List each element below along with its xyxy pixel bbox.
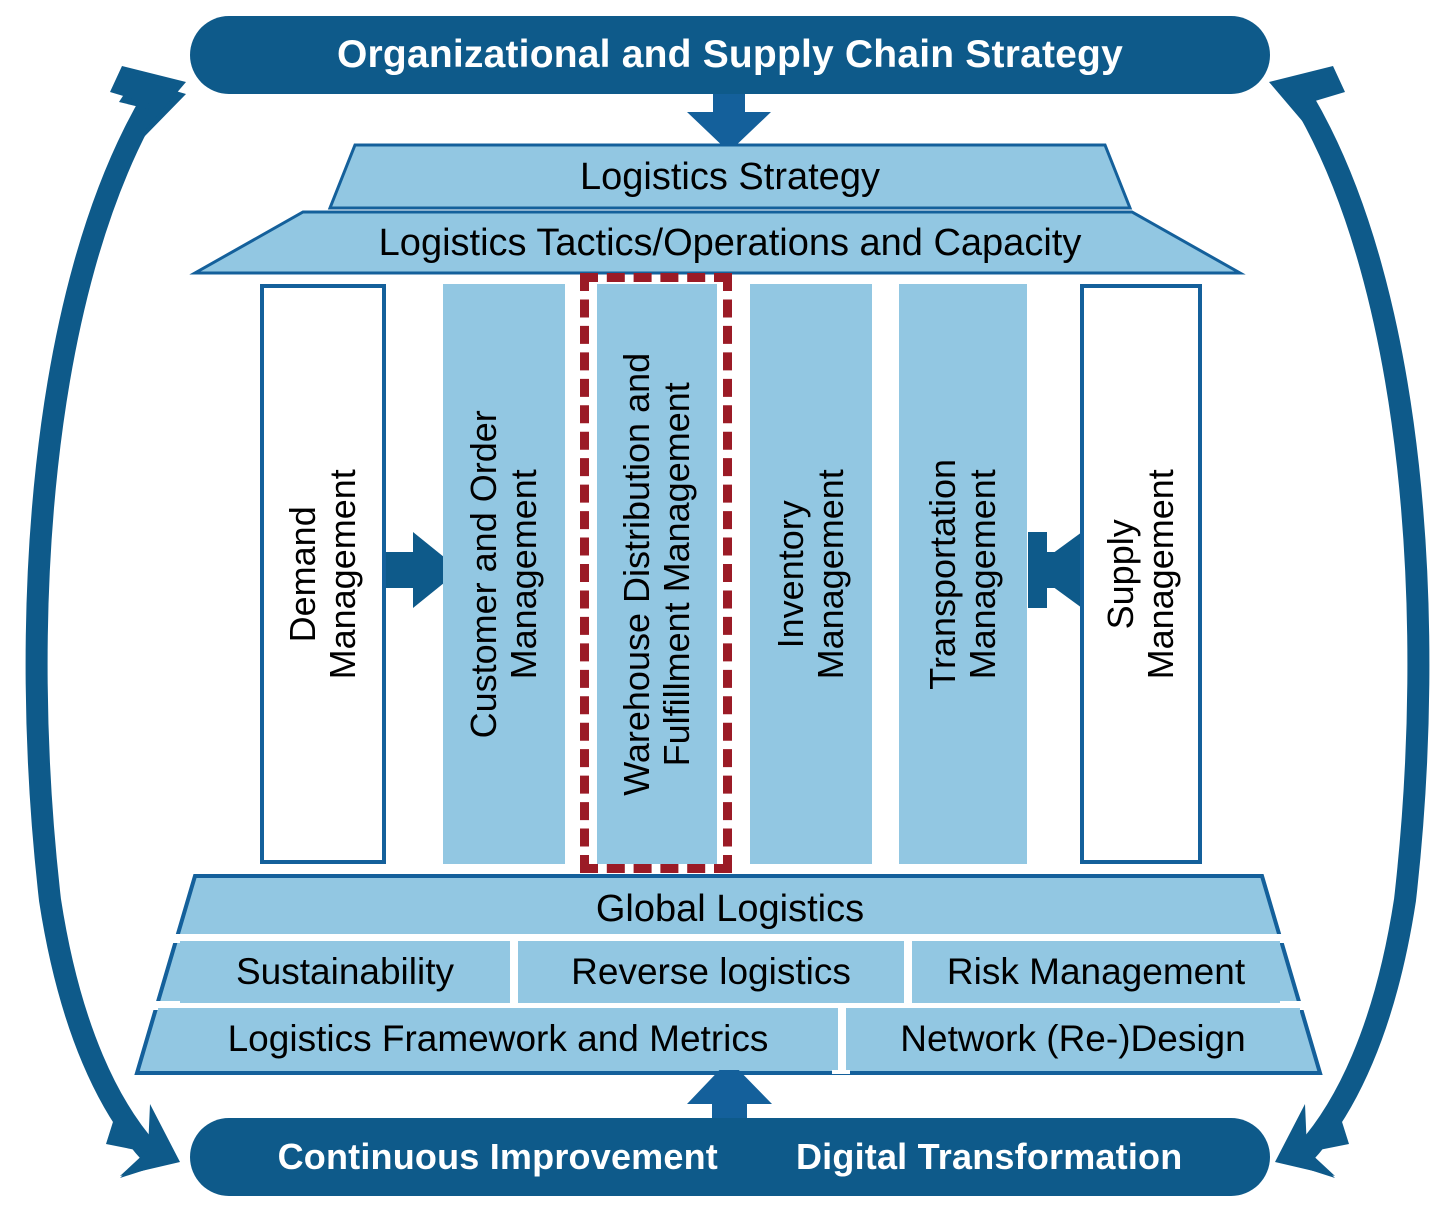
pillar-customer-and-order-management-label: Customer and Order Management — [464, 410, 545, 738]
pillar-warehouse-distribution-and-fulfillment-management-label: Warehouse Distribution and Fulfillment M… — [617, 353, 698, 796]
bottom-bar-label-left: Continuous Improvement — [278, 1136, 718, 1178]
pillar-transportation-management-label: Transportation Management — [923, 459, 1004, 690]
foundation-item-sustainability-label: Sustainability — [236, 951, 454, 993]
pillar-supply-management[interactable]: Supply Management — [1080, 284, 1202, 864]
pillar-transportation-management[interactable]: Transportation Management — [899, 284, 1027, 864]
pillar-inventory-management[interactable]: Inventory Management — [750, 284, 872, 864]
pillar-demand-management-label: Demand Management — [283, 469, 364, 679]
foundation-item-risk-management[interactable]: Risk Management — [912, 941, 1280, 1003]
foundation-item-network-redesign[interactable]: Network (Re-)Design — [846, 1008, 1300, 1070]
foundation-item-risk-management-label: Risk Management — [947, 951, 1245, 993]
arrow-left-icon — [1028, 532, 1086, 608]
foundation-item-logistics-framework-and-metrics[interactable]: Logistics Framework and Metrics — [158, 1008, 838, 1070]
logistics-tactics-shape — [195, 212, 1240, 273]
organizational-supply-chain-strategy-bar[interactable]: Organizational and Supply Chain Strategy — [190, 16, 1270, 94]
continuous-improvement-digital-transformation-bar[interactable]: Continuous Improvement Digital Transform… — [190, 1118, 1270, 1196]
pillar-warehouse-distribution-and-fulfillment-management[interactable]: Warehouse Distribution and Fulfillment M… — [597, 284, 717, 864]
pillar-demand-management[interactable]: Demand Management — [260, 284, 386, 864]
bottom-bar-label-right: Digital Transformation — [796, 1136, 1182, 1178]
foundation-item-reverse-logistics[interactable]: Reverse logistics — [518, 941, 904, 1003]
pillar-supply-management-label: Supply Management — [1101, 469, 1182, 679]
foundation-item-network-redesign-label: Network (Re-)Design — [900, 1018, 1245, 1060]
foundation-item-logistics-framework-and-metrics-label: Logistics Framework and Metrics — [228, 1018, 769, 1060]
foundation-item-sustainability[interactable]: Sustainability — [180, 941, 510, 1003]
logistics-strategy-shape — [330, 145, 1130, 208]
top-bar-label: Organizational and Supply Chain Strategy — [337, 33, 1123, 77]
pillar-customer-and-order-management[interactable]: Customer and Order Management — [443, 284, 565, 864]
diagram-canvas: Organizational and Supply Chain Strategy… — [0, 0, 1455, 1212]
pillar-inventory-management-label: Inventory Management — [771, 469, 852, 679]
foundation-item-reverse-logistics-label: Reverse logistics — [571, 951, 851, 993]
